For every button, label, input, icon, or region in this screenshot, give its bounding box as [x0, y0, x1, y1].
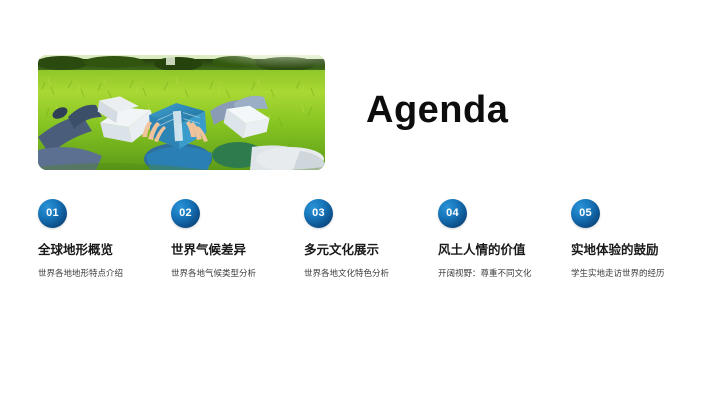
agenda-item-description-5: 学生实地走访世界的经历	[571, 268, 703, 279]
agenda-item-5[interactable]: 05 实地体验的鼓励 学生实地走访世界的经历	[571, 199, 703, 279]
agenda-slide: Agenda 01 全球地形概览 世界各地地形特点介绍 02 世界气候差异 世界…	[0, 0, 720, 404]
agenda-item-heading-3: 多元文化展示	[304, 243, 436, 258]
agenda-number-badge-1: 01	[38, 199, 67, 228]
agenda-number-label-4: 04	[446, 208, 459, 219]
agenda-item-description-3: 世界各地文化特色分析	[304, 268, 436, 279]
agenda-number-badge-4: 04	[438, 199, 467, 228]
hero-photo	[38, 55, 325, 170]
agenda-item-heading-5: 实地体验的鼓励	[571, 243, 703, 258]
agenda-item-1[interactable]: 01 全球地形概览 世界各地地形特点介绍	[38, 199, 170, 279]
agenda-item-description-2: 世界各地气候类型分析	[171, 268, 303, 279]
page-title: Agenda	[366, 91, 508, 129]
agenda-item-2[interactable]: 02 世界气候差异 世界各地气候类型分析	[171, 199, 303, 279]
agenda-item-heading-2: 世界气候差异	[171, 243, 303, 258]
agenda-number-label-1: 01	[46, 208, 59, 219]
agenda-item-description-4: 开阔视野：尊重不同文化	[438, 268, 570, 279]
agenda-number-label-5: 05	[579, 208, 592, 219]
agenda-number-badge-2: 02	[171, 199, 200, 228]
agenda-item-3[interactable]: 03 多元文化展示 世界各地文化特色分析	[304, 199, 436, 279]
agenda-number-label-2: 02	[179, 208, 192, 219]
agenda-number-badge-5: 05	[571, 199, 600, 228]
agenda-item-heading-1: 全球地形概览	[38, 243, 170, 258]
agenda-number-label-3: 03	[312, 208, 325, 219]
hero-photo-illustration	[38, 55, 325, 170]
agenda-item-heading-4: 风土人情的价值	[438, 243, 570, 258]
agenda-item-description-1: 世界各地地形特点介绍	[38, 268, 170, 279]
agenda-number-badge-3: 03	[304, 199, 333, 228]
agenda-item-4[interactable]: 04 风土人情的价值 开阔视野：尊重不同文化	[438, 199, 570, 279]
